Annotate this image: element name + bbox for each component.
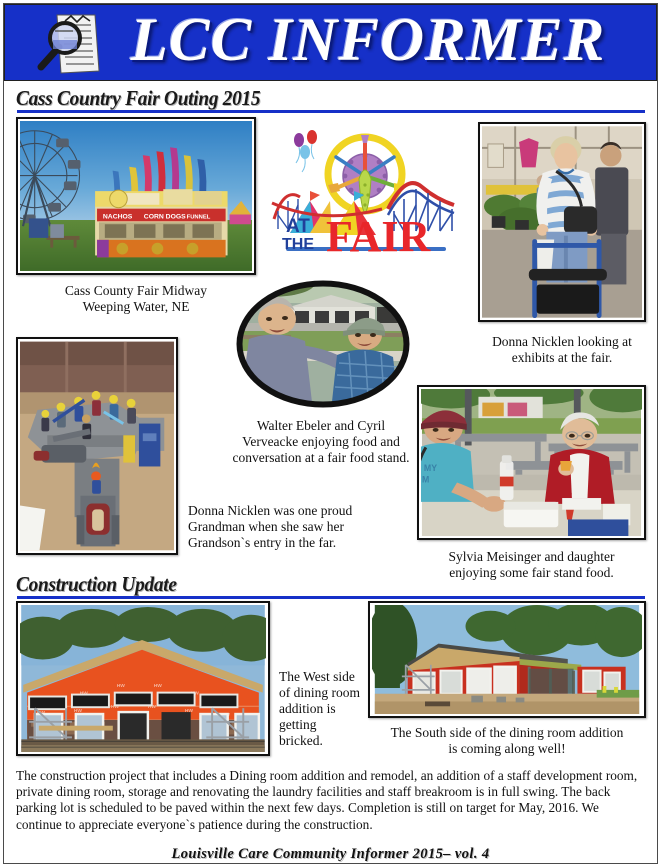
photo-west-side-art: HWHWHW HWHWHW HWHWHW HWHWHW HWHWHW HWHWH… (20, 605, 266, 752)
caption-fair-midway-line1: Cass County Fair Midway (16, 283, 256, 299)
caption-south-side: The South side of the dining room additi… (368, 725, 646, 757)
caption-lego-entry-line1: Donna Nicklen was one proud (188, 503, 406, 519)
caption-west-side-line3: addition is (279, 701, 369, 717)
construction-paragraph: The construction project that includes a… (16, 768, 646, 833)
svg-text:M: M (422, 474, 429, 484)
caption-lego-entry-line2: Grandman when she saw her (188, 519, 406, 535)
photo-fair-midway-art: NACHOS CORN DOGS FUNNEL (20, 121, 252, 271)
photo-south-side-art (372, 605, 642, 714)
svg-text:FUNNEL: FUNNEL (187, 214, 211, 220)
caption-sylvia-daughter-line1: Sylvia Meisinger and daughter (417, 549, 646, 565)
caption-west-side-line4: getting (279, 717, 369, 733)
caption-sylvia-daughter: Sylvia Meisinger and daughter enjoying s… (417, 549, 646, 581)
caption-walter-cyril: Walter Ebeler and Cyril Verveacke enjoyi… (213, 418, 429, 466)
clipart-fair-label: FAIR (326, 212, 432, 261)
photo-walter-cyril-art (231, 277, 415, 411)
at-the-fair-clipart: AT THE FAIR (268, 119, 462, 262)
svg-text:CORN DOGS: CORN DOGS (144, 213, 186, 220)
section-rule-fair (17, 110, 645, 113)
section-heading-fair-label: Cass Country Fair Outing 2015 (16, 86, 260, 111)
footer-text: Louisville Care Community Informer 2015–… (4, 846, 657, 863)
caption-south-side-line2: is coming along well! (368, 741, 646, 757)
caption-west-side-line1: The West side (279, 669, 369, 685)
caption-fair-midway-line2: Weeping Water, NE (16, 299, 256, 315)
photo-fair-midway: NACHOS CORN DOGS FUNNEL (16, 117, 256, 275)
section-rule-construction (17, 596, 645, 599)
photo-lego-entry-art (20, 341, 174, 551)
caption-walter-cyril-line3: conversation at a fair food stand. (213, 450, 429, 466)
caption-west-side-line5: bricked. (279, 733, 369, 749)
caption-south-side-line1: The South side of the dining room additi… (368, 725, 646, 741)
caption-walter-cyril-line1: Walter Ebeler and Cyril (213, 418, 429, 434)
caption-donna-exhibits-line1: Donna Nicklen looking at (470, 334, 654, 350)
caption-sylvia-daughter-line2: enjoying some fair stand food. (417, 565, 646, 581)
svg-text:MY: MY (424, 463, 437, 473)
clipart-the-label: THE (282, 236, 314, 253)
photo-sylvia-daughter: MY M (417, 385, 646, 540)
caption-west-side: The West side of dining room addition is… (279, 669, 369, 749)
caption-donna-exhibits-line2: exhibits at the fair. (470, 350, 654, 366)
caption-walter-cyril-line2: Verveacke enjoying food and (213, 434, 429, 450)
caption-west-side-line2: of dining room (279, 685, 369, 701)
photo-donna-exhibits-art (482, 126, 642, 318)
svg-text:HW: HW (154, 683, 163, 689)
photo-west-side: HWHWHW HWHWHW HWHWHW HWHWHW HWHWHW HWHWH… (16, 601, 270, 756)
photo-donna-exhibits (478, 122, 646, 322)
page-title: LCC INFORMER (83, 4, 653, 81)
masthead-banner: LCC INFORMER (4, 4, 657, 81)
caption-lego-entry-line3: Grandson`s entry in the far. (188, 535, 406, 551)
caption-donna-exhibits: Donna Nicklen looking at exhibits at the… (470, 334, 654, 366)
photo-sylvia-daughter-art: MY M (421, 389, 642, 536)
photo-lego-entry (16, 337, 178, 555)
caption-lego-entry: Donna Nicklen was one proud Grandman whe… (188, 503, 406, 551)
photo-south-side (368, 601, 646, 718)
svg-text:NACHOS: NACHOS (103, 213, 133, 220)
newsletter-page: LCC INFORMER Cass Country Fair Outing 20… (0, 0, 661, 867)
caption-fair-midway: Cass County Fair Midway Weeping Water, N… (16, 283, 256, 315)
at-the-fair-clipart-art: AT THE FAIR (268, 119, 462, 262)
svg-text:HW: HW (117, 683, 126, 689)
section-heading-construction-label: Construction Update (16, 572, 177, 597)
photo-walter-cyril (231, 277, 415, 411)
clipart-at-label: AT (286, 216, 310, 237)
